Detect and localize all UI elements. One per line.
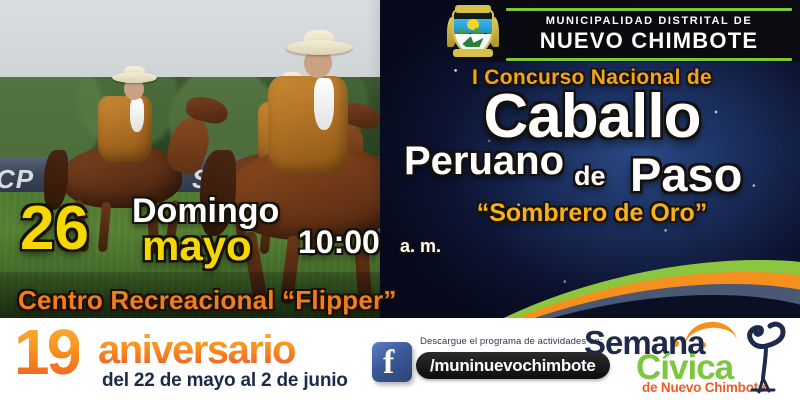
event-poster: CP SC [0, 0, 800, 400]
municipality-line1: MUNICIPALIDAD DISTRITAL DE [506, 15, 792, 27]
flamingo-icon [726, 320, 786, 396]
header-rule-bottom [506, 58, 792, 61]
municipality-header: MUNICIPALIDAD DISTRITAL DE NUEVO CHIMBOT… [440, 0, 800, 62]
facebook-block[interactable]: f Descargue el programa de actividades e… [372, 328, 584, 392]
poster-footer: 19 aniversario del 22 de mayo al 2 de ju… [0, 318, 800, 400]
anniversary-logo: 19 aniversario del 22 de mayo al 2 de ju… [14, 324, 364, 396]
event-day-number: 26 [20, 198, 89, 260]
title-word-caballo: Caballo [392, 88, 792, 145]
facebook-glyph: f [383, 344, 394, 382]
event-venue: Centro Recreacional “Flipper” [18, 285, 397, 316]
municipality-line2: NUEVO CHIMBOTE [506, 28, 792, 54]
facebook-icon[interactable]: f [372, 342, 412, 382]
title-second-row: Peruano de Paso [392, 139, 792, 195]
anniversary-dates: del 22 de mayo al 2 de junio [102, 370, 348, 392]
facebook-caption: Descargue el programa de actividades en: [420, 336, 603, 347]
event-month: mayo [142, 222, 252, 270]
anniversary-number: 19 [14, 320, 79, 384]
title-word-paso: Paso [630, 147, 742, 202]
municipal-coat-of-arms-icon [448, 6, 498, 58]
municipality-nameplate: MUNICIPALIDAD DISTRITAL DE NUEVO CHIMBOT… [506, 8, 792, 61]
anniversary-word: aniversario [98, 330, 295, 370]
semana-civica-logo: Semana Cívica de Nuevo Chimbote [580, 322, 792, 398]
header-rule-top [506, 8, 792, 11]
title-word-de: de [574, 161, 606, 192]
title-word-peruano: Peruano [404, 139, 564, 184]
facebook-handle: /muninuevochimbote [430, 356, 596, 376]
